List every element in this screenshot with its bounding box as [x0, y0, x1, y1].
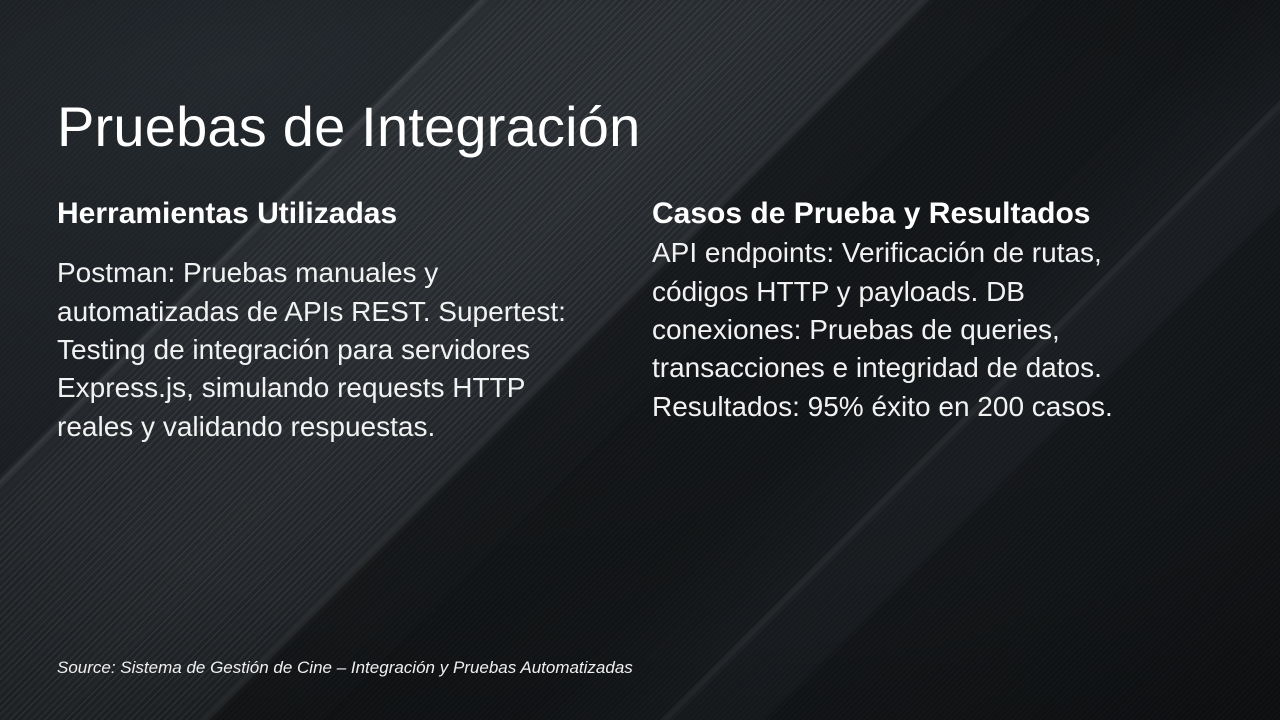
presentation-slide: Pruebas de Integración Herramientas Util…	[0, 0, 1280, 720]
content-column-left: Herramientas Utilizadas Postman: Pruebas…	[57, 192, 587, 446]
column-heading-herramientas: Herramientas Utilizadas	[57, 192, 587, 236]
column-body-herramientas: Postman: Pruebas manuales y automatizada…	[57, 254, 587, 446]
content-column-right: Casos de Prueba y Resultados API endpoin…	[652, 192, 1182, 426]
slide-content: Pruebas de Integración Herramientas Util…	[0, 0, 1280, 720]
source-note: Source: Sistema de Gestión de Cine – Int…	[57, 658, 633, 678]
column-body-casos: API endpoints: Verificación de rutas, có…	[652, 234, 1182, 426]
slide-title: Pruebas de Integración	[57, 96, 640, 159]
column-heading-casos: Casos de Prueba y Resultados	[652, 192, 1182, 236]
